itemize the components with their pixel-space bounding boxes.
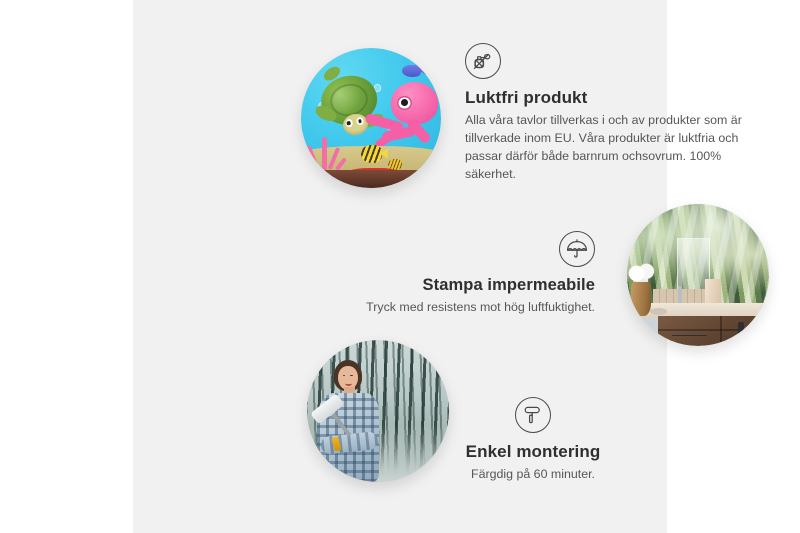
feature-easy-mounting: Enkel montering Färgdig på 60 minuter.	[395, 397, 671, 484]
content-panel: Luktfri produkt Alla våra tavlor tillver…	[133, 0, 667, 533]
feature-odourless: Luktfri produkt Alla våra tavlor tillver…	[465, 43, 755, 184]
striped-yellow-fish	[361, 145, 382, 163]
feature-title: Luktfri produkt	[465, 88, 755, 108]
paint-roller-icon	[515, 397, 551, 433]
underwater-cartoon-photo	[301, 48, 441, 188]
feature-title: Enkel montering	[395, 442, 671, 462]
vanity-seam	[720, 316, 722, 346]
blue-fish	[402, 65, 422, 78]
bathroom-wallpaper-photo	[627, 204, 769, 346]
cabinet-handle	[738, 322, 744, 338]
flower-vase	[631, 282, 651, 316]
no-odour-perfume-bottle-icon	[465, 43, 501, 79]
screenshot-canvas: Luktfri produkt Alla våra tavlor tillver…	[0, 0, 800, 533]
feature-body: Alla våra tavlor tillverkas i och av pro…	[465, 112, 755, 184]
dark-foreground-band	[301, 170, 441, 188]
woman-smile	[345, 381, 353, 386]
pink-coral	[304, 132, 346, 171]
woman-eye	[343, 375, 346, 377]
underwater-cartoon-photo-inner	[301, 48, 441, 188]
bathroom-wallpaper-photo-inner	[627, 204, 769, 346]
octopus-head	[391, 82, 439, 124]
umbrella-icon	[559, 231, 595, 267]
feature-waterproof: Stampa impermeabile Tryck med resistens …	[323, 231, 595, 317]
octopus-eye	[397, 96, 411, 110]
sea-turtle-eye	[344, 118, 353, 128]
vanity-seam	[658, 329, 769, 331]
woman-eye	[350, 375, 353, 377]
sea-turtle-eye	[356, 116, 365, 126]
feature-body: Färgdig på 60 minuter.	[395, 466, 671, 484]
soap-dish	[650, 308, 667, 315]
coral-branch	[322, 137, 327, 171]
wooden-vanity	[658, 316, 769, 346]
drawer-handle	[672, 335, 707, 337]
feature-title: Stampa impermeabile	[323, 276, 595, 295]
feature-body: Tryck med resistens mot hög luftfuktighe…	[323, 299, 595, 317]
